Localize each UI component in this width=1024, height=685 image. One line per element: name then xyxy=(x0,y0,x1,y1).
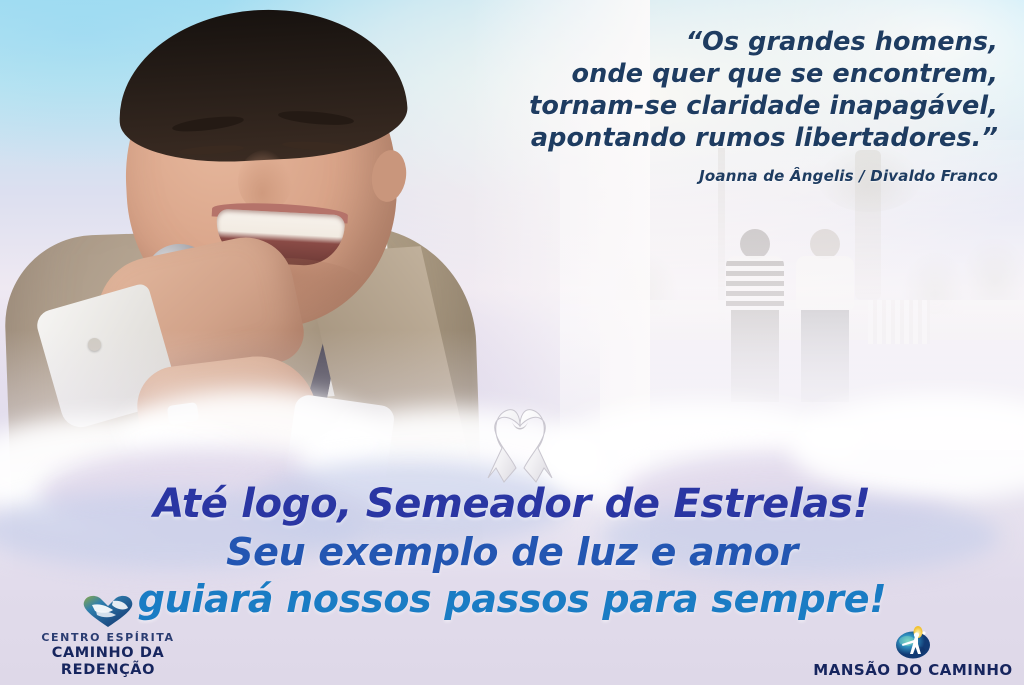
ghost-fence xyxy=(868,300,930,344)
logo-left-line-2: CAMINHO DA REDENÇÃO xyxy=(8,645,208,679)
ghost-scene-haze xyxy=(560,140,1024,450)
headline-line-1: Até logo, Semeador de Estrelas! xyxy=(0,484,1024,524)
logo-mansao-do-caminho[interactable]: MANSÃO DO CAMINHO xyxy=(808,624,1018,679)
ghost-wall xyxy=(600,300,1024,340)
ghost-person-legs xyxy=(731,310,779,402)
quote-block: “Os grandes homens, onde quer que se enc… xyxy=(438,26,998,185)
ghost-foliage xyxy=(960,236,1024,300)
mourning-ribbon-icon xyxy=(486,408,554,486)
ghost-person-torso xyxy=(796,256,854,310)
ghost-person-head xyxy=(810,229,840,259)
portrait-cuff-button xyxy=(88,338,101,351)
logo-left-line-1: CENTRO ESPÍRITA xyxy=(8,631,208,645)
ghost-person-torso xyxy=(726,256,784,310)
portrait-hair xyxy=(114,3,409,168)
headline-line-2: Seu exemplo de luz e amor xyxy=(0,533,1024,571)
ghost-person-legs xyxy=(801,310,849,402)
ghost-foliage xyxy=(610,250,680,314)
ghost-person-head xyxy=(740,229,770,259)
ghost-foliage xyxy=(900,250,970,314)
quote-attribution: Joanna de Ângelis / Divaldo Franco xyxy=(438,167,998,185)
ghost-person xyxy=(796,229,854,402)
background-ghost-scene xyxy=(600,150,1024,430)
globe-torch-figure-icon xyxy=(808,624,1018,660)
heart-hands-icon xyxy=(8,593,208,629)
logo-right-line-2: MANSÃO DO CAMINHO xyxy=(808,662,1018,679)
quote-line-3: tornam-se claridade inapagável, xyxy=(438,90,998,122)
ghost-person xyxy=(726,229,784,402)
quote-line-1: “Os grandes homens, xyxy=(438,26,998,58)
logo-centro-espirita[interactable]: CENTRO ESPÍRITA CAMINHO DA REDENÇÃO xyxy=(8,593,208,679)
memorial-poster: “Os grandes homens, onde quer que se enc… xyxy=(0,0,1024,685)
quote-line-2: onde quer que se encontrem, xyxy=(438,58,998,90)
quote-line-4: apontando rumos libertadores.” xyxy=(438,122,998,154)
